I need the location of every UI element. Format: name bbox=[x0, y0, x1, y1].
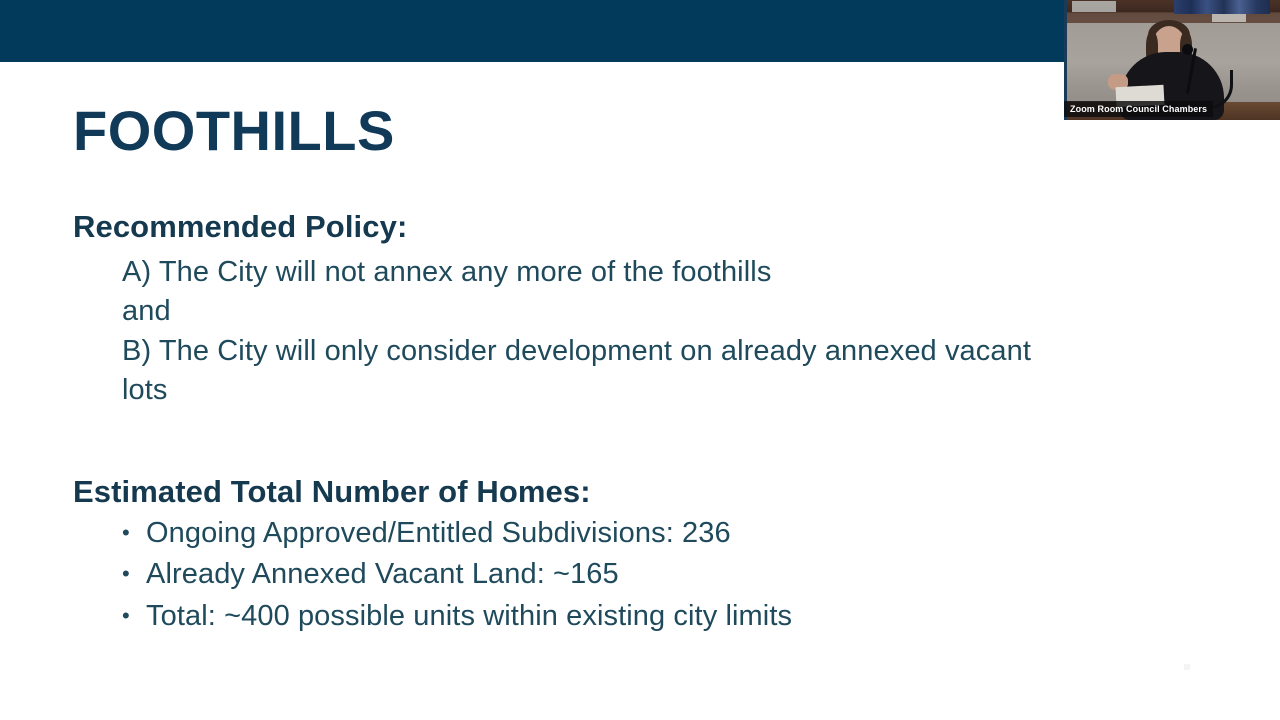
policy-lines: A) The City will not annex any more of t… bbox=[73, 253, 1243, 411]
section-heading-estimated-homes: Estimated Total Number of Homes: bbox=[73, 473, 1243, 512]
list-item-label: Already Annexed Vacant Land: ~165 bbox=[146, 558, 619, 590]
section-estimated-homes: Estimated Total Number of Homes: • Ongoi… bbox=[73, 473, 1243, 637]
video-background-flags bbox=[1174, 0, 1270, 14]
presentation-slide: FOOTHILLS Recommended Policy: A) The Cit… bbox=[0, 0, 1280, 720]
list-item: • Already Annexed Vacant Land: ~165 bbox=[122, 554, 1243, 595]
video-background-screen bbox=[1072, 1, 1116, 12]
video-background-papers bbox=[1212, 14, 1246, 22]
policy-line-and: and bbox=[73, 292, 1243, 331]
faint-artifact bbox=[1184, 664, 1190, 670]
section-recommended-policy: Recommended Policy: A) The City will not… bbox=[73, 208, 1243, 411]
list-item-label: Ongoing Approved/Entitled Subdivisions: … bbox=[146, 517, 731, 549]
video-participant-label: Zoom Room Council Chambers bbox=[1064, 101, 1213, 117]
list-item-label: Total: ~400 possible units within existi… bbox=[146, 600, 792, 632]
video-thumbnail-council-chambers[interactable]: Zoom Room Council Chambers bbox=[1064, 0, 1280, 120]
microphone-icon bbox=[1182, 44, 1193, 55]
section-spacer bbox=[73, 411, 1243, 473]
bullet-dot-icon: • bbox=[122, 596, 130, 637]
policy-line-a: A) The City will not annex any more of t… bbox=[73, 253, 1243, 292]
bullet-dot-icon: • bbox=[122, 554, 130, 595]
policy-line-b: B) The City will only consider developme… bbox=[73, 332, 1243, 371]
page-title: FOOTHILLS bbox=[73, 103, 395, 159]
slide-body: Recommended Policy: A) The City will not… bbox=[73, 208, 1243, 637]
policy-line-b-continued: lots bbox=[73, 371, 1243, 410]
list-item: • Total: ~400 possible units within exis… bbox=[122, 596, 1243, 637]
list-item: • Ongoing Approved/Entitled Subdivisions… bbox=[122, 513, 1243, 554]
section-heading-recommended-policy: Recommended Policy: bbox=[73, 208, 1243, 247]
slide-top-banner bbox=[0, 0, 1064, 62]
bullet-dot-icon: • bbox=[122, 513, 130, 554]
estimated-homes-bullets: • Ongoing Approved/Entitled Subdivisions… bbox=[73, 513, 1243, 637]
